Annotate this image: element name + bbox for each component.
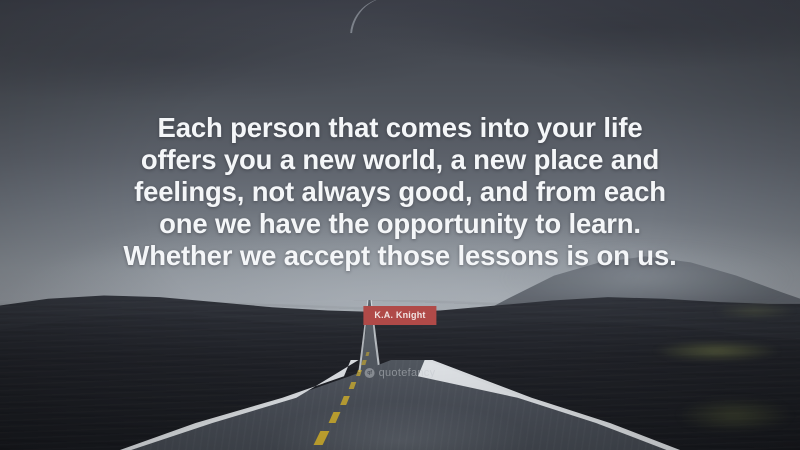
quotefancy-logo-glyph: qf [367,371,372,376]
quote-line-5: Whether we accept those lessons is on us… [0,240,800,272]
quotefancy-logo-icon: qf [365,368,375,378]
watermark[interactable]: qf quotefancy [365,367,436,379]
quote-line-1: Each person that comes into your life [0,112,800,144]
watermark-brand-label: quotefancy [379,367,436,379]
quote-text: Each person that comes into your life of… [0,112,800,272]
quote-poster: Each person that comes into your life of… [0,0,800,450]
author-badge[interactable]: K.A. Knight [363,306,436,325]
quote-line-2: offers you a new world, a new place and [0,144,800,176]
quote-line-3: feelings, not always good, and from each [0,176,800,208]
quote-line-4: one we have the opportunity to learn. [0,208,800,240]
